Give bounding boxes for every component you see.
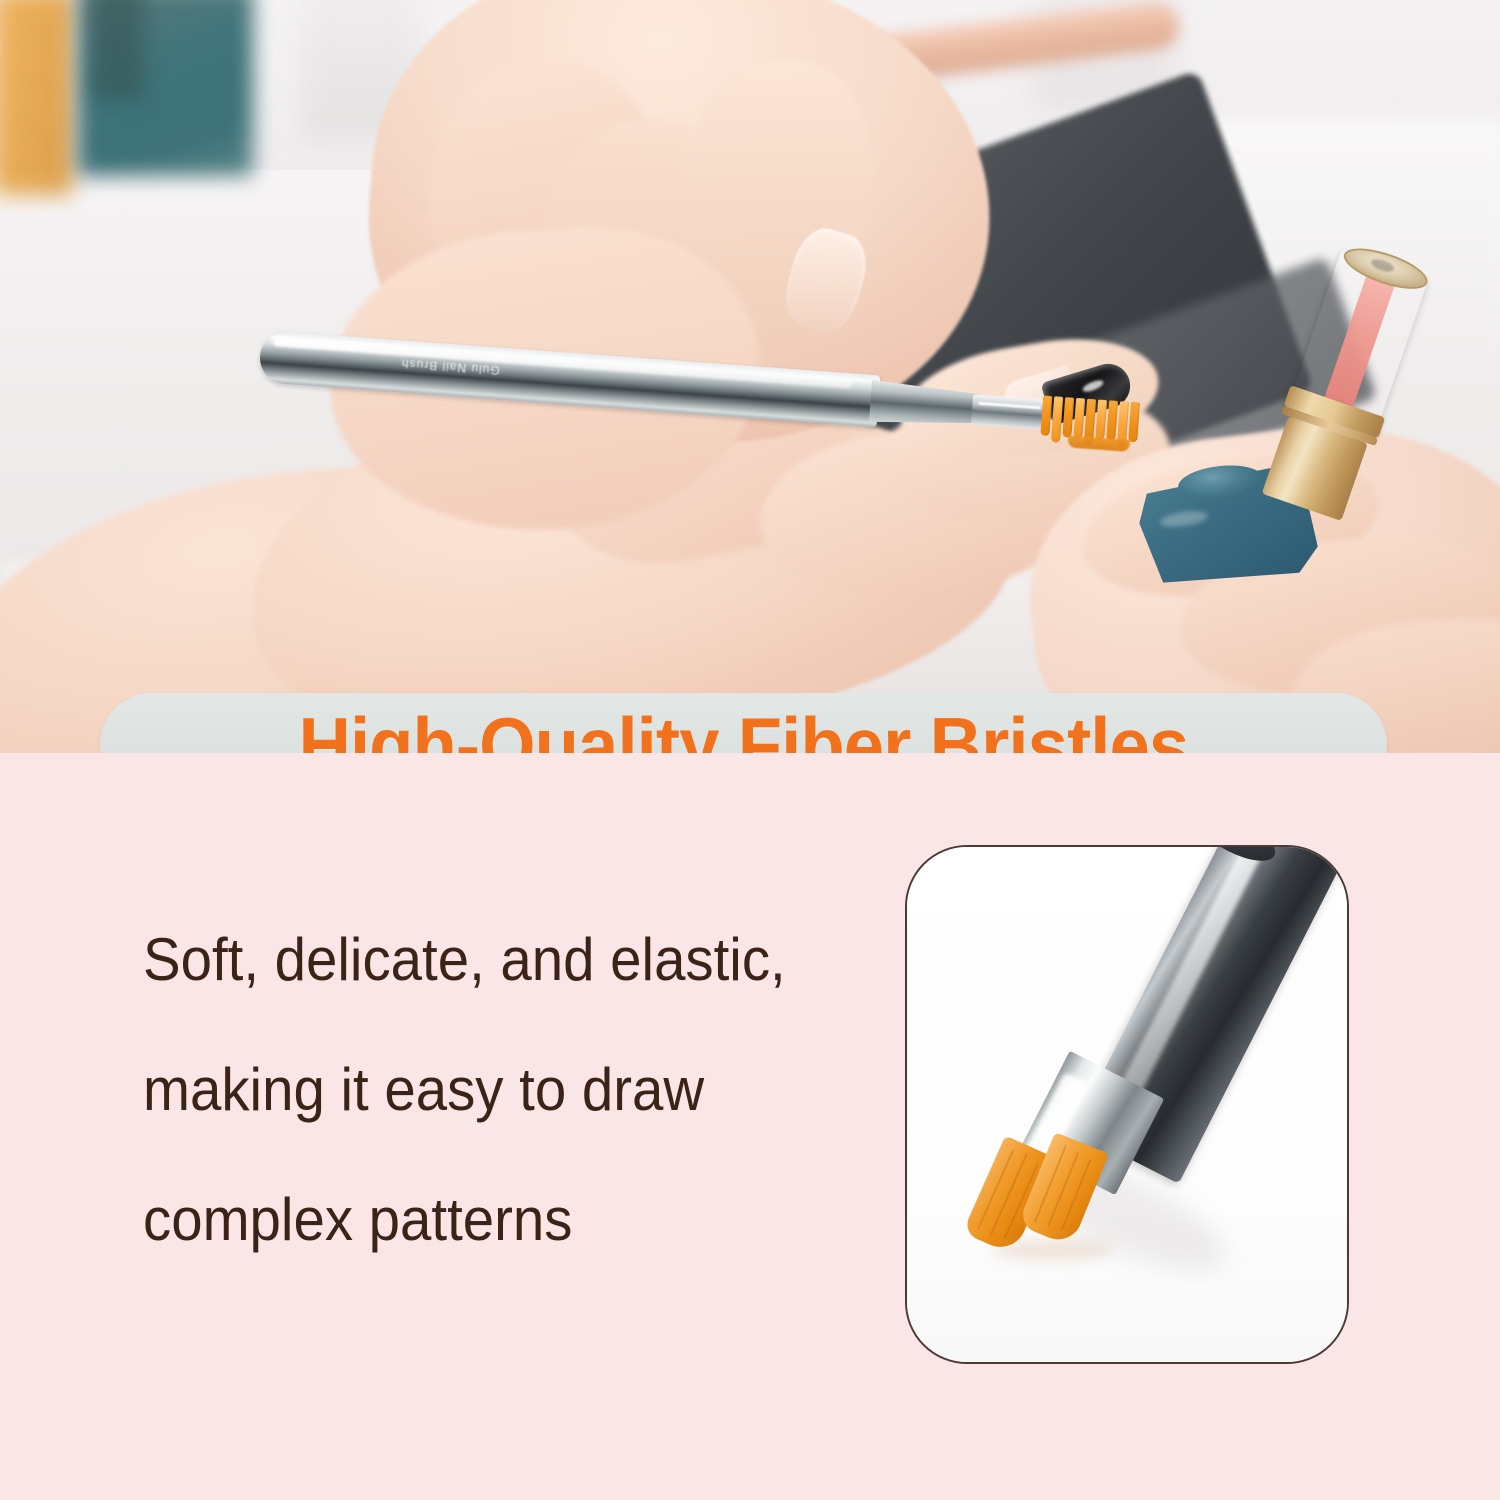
blurred-teal-bottle-shadow — [92, 0, 144, 100]
brush-bristles — [1040, 395, 1147, 443]
brush-tip-closeup-card — [905, 845, 1349, 1364]
feature-description: Soft, delicate, and elastic, making it e… — [143, 930, 863, 1250]
bristle — [1051, 396, 1063, 443]
inset-tuft-shadow — [993, 1239, 1113, 1261]
bristle — [1128, 402, 1140, 443]
bristle — [1062, 397, 1074, 438]
description-line-2: making it easy to draw — [143, 1060, 820, 1120]
brush-taper — [869, 380, 982, 430]
description-line-1: Soft, delicate, and elastic, — [143, 930, 820, 990]
bristle — [1040, 395, 1052, 436]
description-line-3: complex patterns — [143, 1190, 820, 1250]
hero-photo: Gulu Nail Brush — [0, 0, 1500, 753]
blurred-amber-bottle — [0, 0, 74, 195]
bristle — [1073, 398, 1085, 439]
brush-ferrule — [971, 394, 1047, 429]
product-feature-poster: Gulu Nail Brush — [0, 0, 1500, 1500]
bristle — [1095, 399, 1107, 440]
bristle — [1106, 400, 1118, 441]
